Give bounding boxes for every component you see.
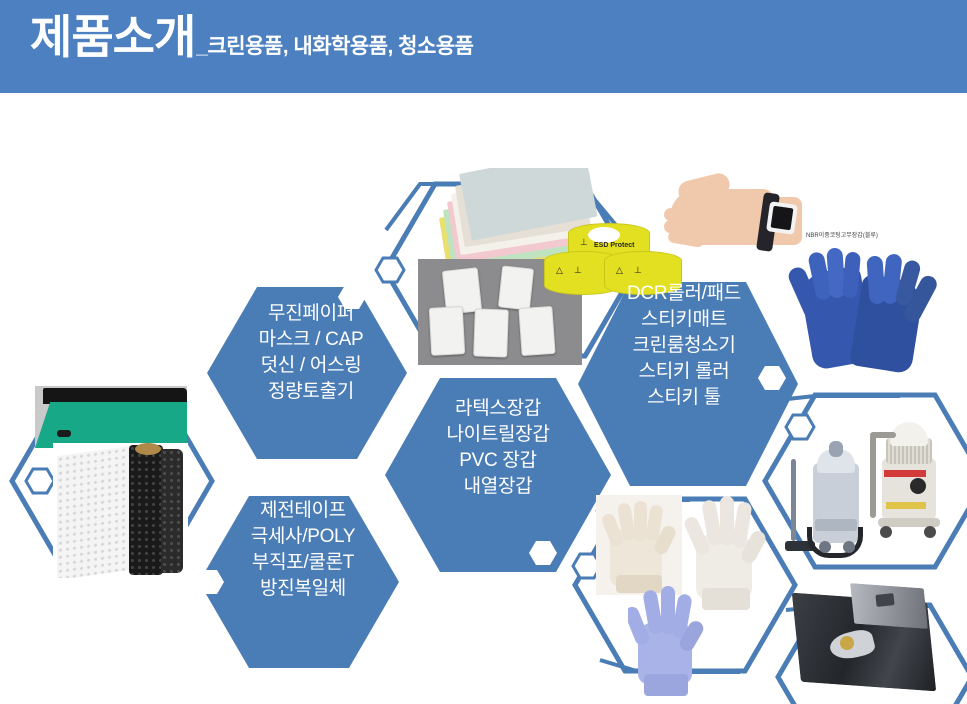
hexagon-fill-tape-fabric[interactable]	[199, 496, 399, 668]
esd-tape-label: ESD Protect	[594, 242, 634, 249]
hexagon-connector-left	[26, 469, 54, 493]
accent-stroke-right-vacuum	[778, 396, 900, 400]
cleanroom-vacuum-drum-photo	[868, 410, 948, 550]
slide-canvas: 제품소개 _크린용품, 내화학용품, 청소용품	[0, 0, 967, 704]
esd-shielding-bag-photo	[790, 580, 960, 692]
esd-mat-photo	[35, 386, 187, 448]
nitrile-glove-photo	[628, 578, 704, 698]
nbr-gloves-caption: NBR이중코팅고무장갑(블루)	[806, 230, 878, 239]
nbr-gloves-photo: NBR이중코팅고무장갑(블루)	[782, 222, 967, 382]
hexagon-fill-paper-wear[interactable]	[207, 287, 407, 459]
hexagon-connector-top-center	[376, 258, 404, 282]
esd-tape-photo: ESD Protect ⊥ △ ⊥ △ ⊥	[542, 205, 682, 303]
hexagon-fill-gloves[interactable]	[385, 378, 611, 572]
antistatic-roll-photo	[53, 443, 188, 578]
cleanroom-vacuum-upright-photo	[785, 435, 863, 570]
